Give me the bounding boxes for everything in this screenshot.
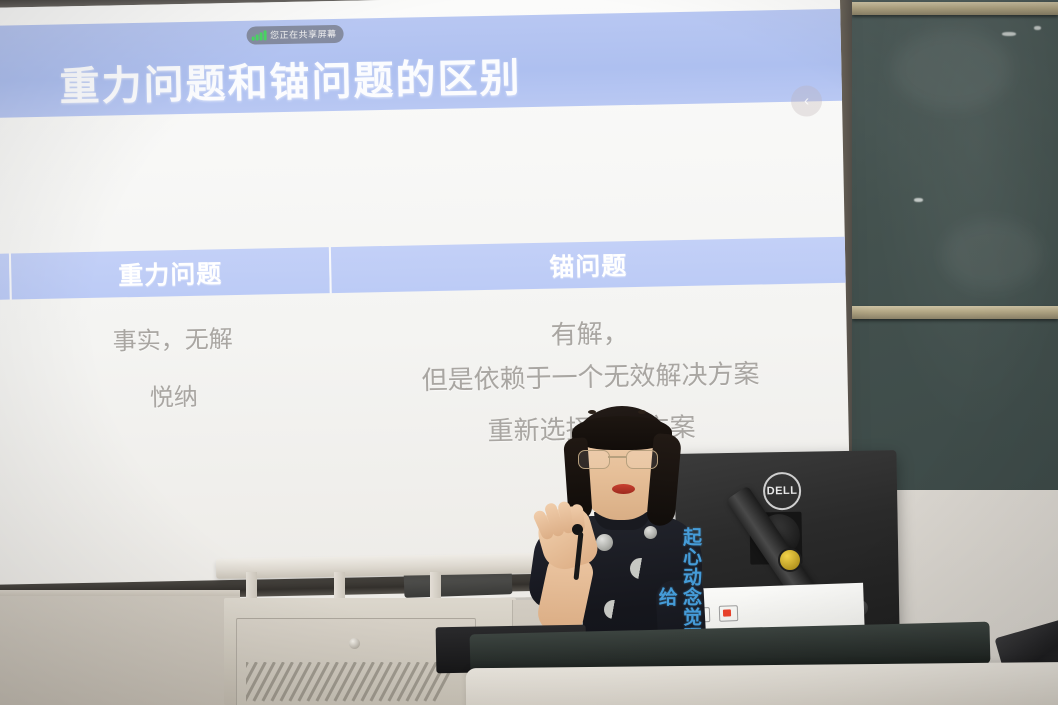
gravity-line-2: 悦纳 xyxy=(13,374,334,422)
slide-title-band: 重力问题和锚问题的区别 xyxy=(0,9,842,118)
page-title: 重力问题和锚问题的区别 xyxy=(59,45,522,112)
chalk-mark xyxy=(1002,32,1016,36)
side-console xyxy=(0,596,240,705)
gravity-line-1: 事实，无解 xyxy=(12,317,333,365)
monitor-arm-knob[interactable] xyxy=(778,548,802,572)
glasses-icon xyxy=(578,450,662,467)
chalkboard xyxy=(826,0,1058,490)
classroom-screenshot: 重力问题和锚问题的区别 您正在共享屏幕 ‹ 重力问题 锚问题 事实， xyxy=(0,0,1058,705)
presenter-lips xyxy=(612,484,635,494)
moon-motif xyxy=(596,534,613,551)
podium-lock-icon[interactable] xyxy=(349,638,360,649)
chalkboard-rail-middle xyxy=(852,306,1058,319)
chalk-mark xyxy=(1034,26,1041,30)
chalkboard-surface xyxy=(852,0,1058,490)
chalk-mark xyxy=(914,198,923,202)
chalkboard-smudge xyxy=(892,30,1012,110)
screen-share-label: 您正在共享屏幕 xyxy=(270,27,337,41)
presenter-eye xyxy=(588,410,596,414)
table-header-gravity: 重力问题 xyxy=(11,247,332,299)
moon-motif xyxy=(630,558,651,579)
table-header-blank xyxy=(0,254,12,300)
chalkboard-smudge xyxy=(942,220,1042,290)
moon-motif xyxy=(604,600,623,619)
dell-logo-icon: DELL xyxy=(763,472,802,511)
table-cell-gravity: 事实，无解 悦纳 xyxy=(12,293,335,464)
moon-motif xyxy=(644,526,657,539)
screen-share-badge: 您正在共享屏幕 xyxy=(246,25,343,45)
podium-vent-grille xyxy=(246,662,460,704)
chalkboard-rail-top xyxy=(852,2,1058,15)
anchor-line-2: 但是依赖于一个无效解决方案 xyxy=(333,349,848,404)
presenter-eye xyxy=(638,410,646,414)
signal-bars-icon xyxy=(251,30,266,40)
chevron-left-icon[interactable]: ‹ xyxy=(791,85,823,117)
